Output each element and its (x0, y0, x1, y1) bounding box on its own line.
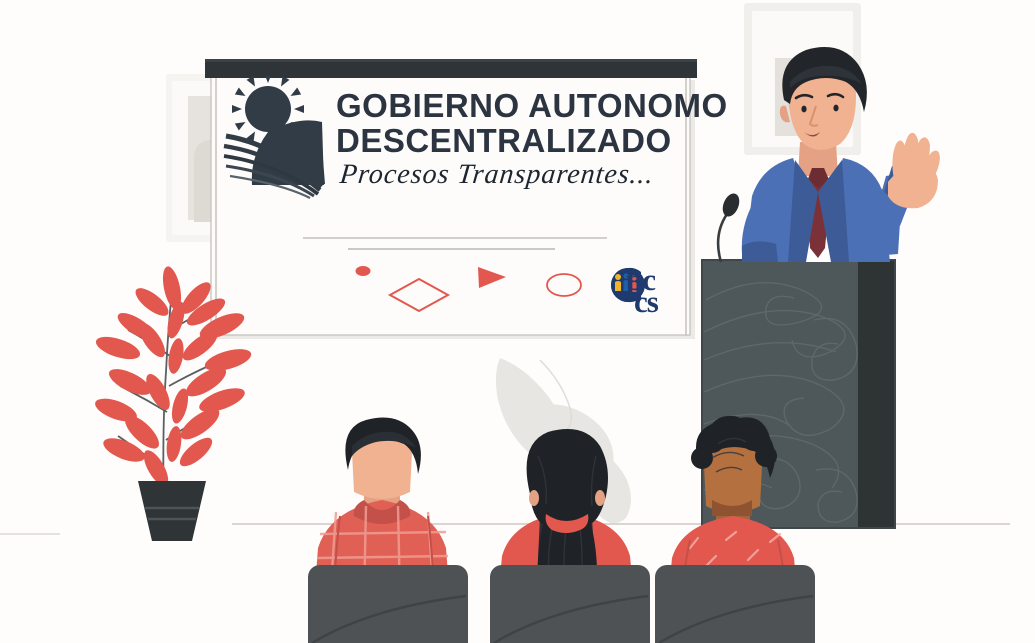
cpccs-line-2: cs (634, 286, 658, 317)
cpccs-wordmark: pc cs (604, 264, 678, 322)
center-woman-hair (527, 429, 608, 524)
slide-tagline: Procesos Transparentes... (339, 161, 656, 189)
slide-title-line-2: DESCENTRALIZADO (336, 124, 672, 157)
speaker-sleeve-cuff (742, 241, 778, 262)
presentation-scene: GOBIERNO AUTONOMO DESCENTRALIZADO Proces… (0, 0, 1035, 643)
shape-filled-dot (356, 266, 371, 276)
slide-title-line-1: GOBIERNO AUTONOMO (336, 89, 728, 122)
